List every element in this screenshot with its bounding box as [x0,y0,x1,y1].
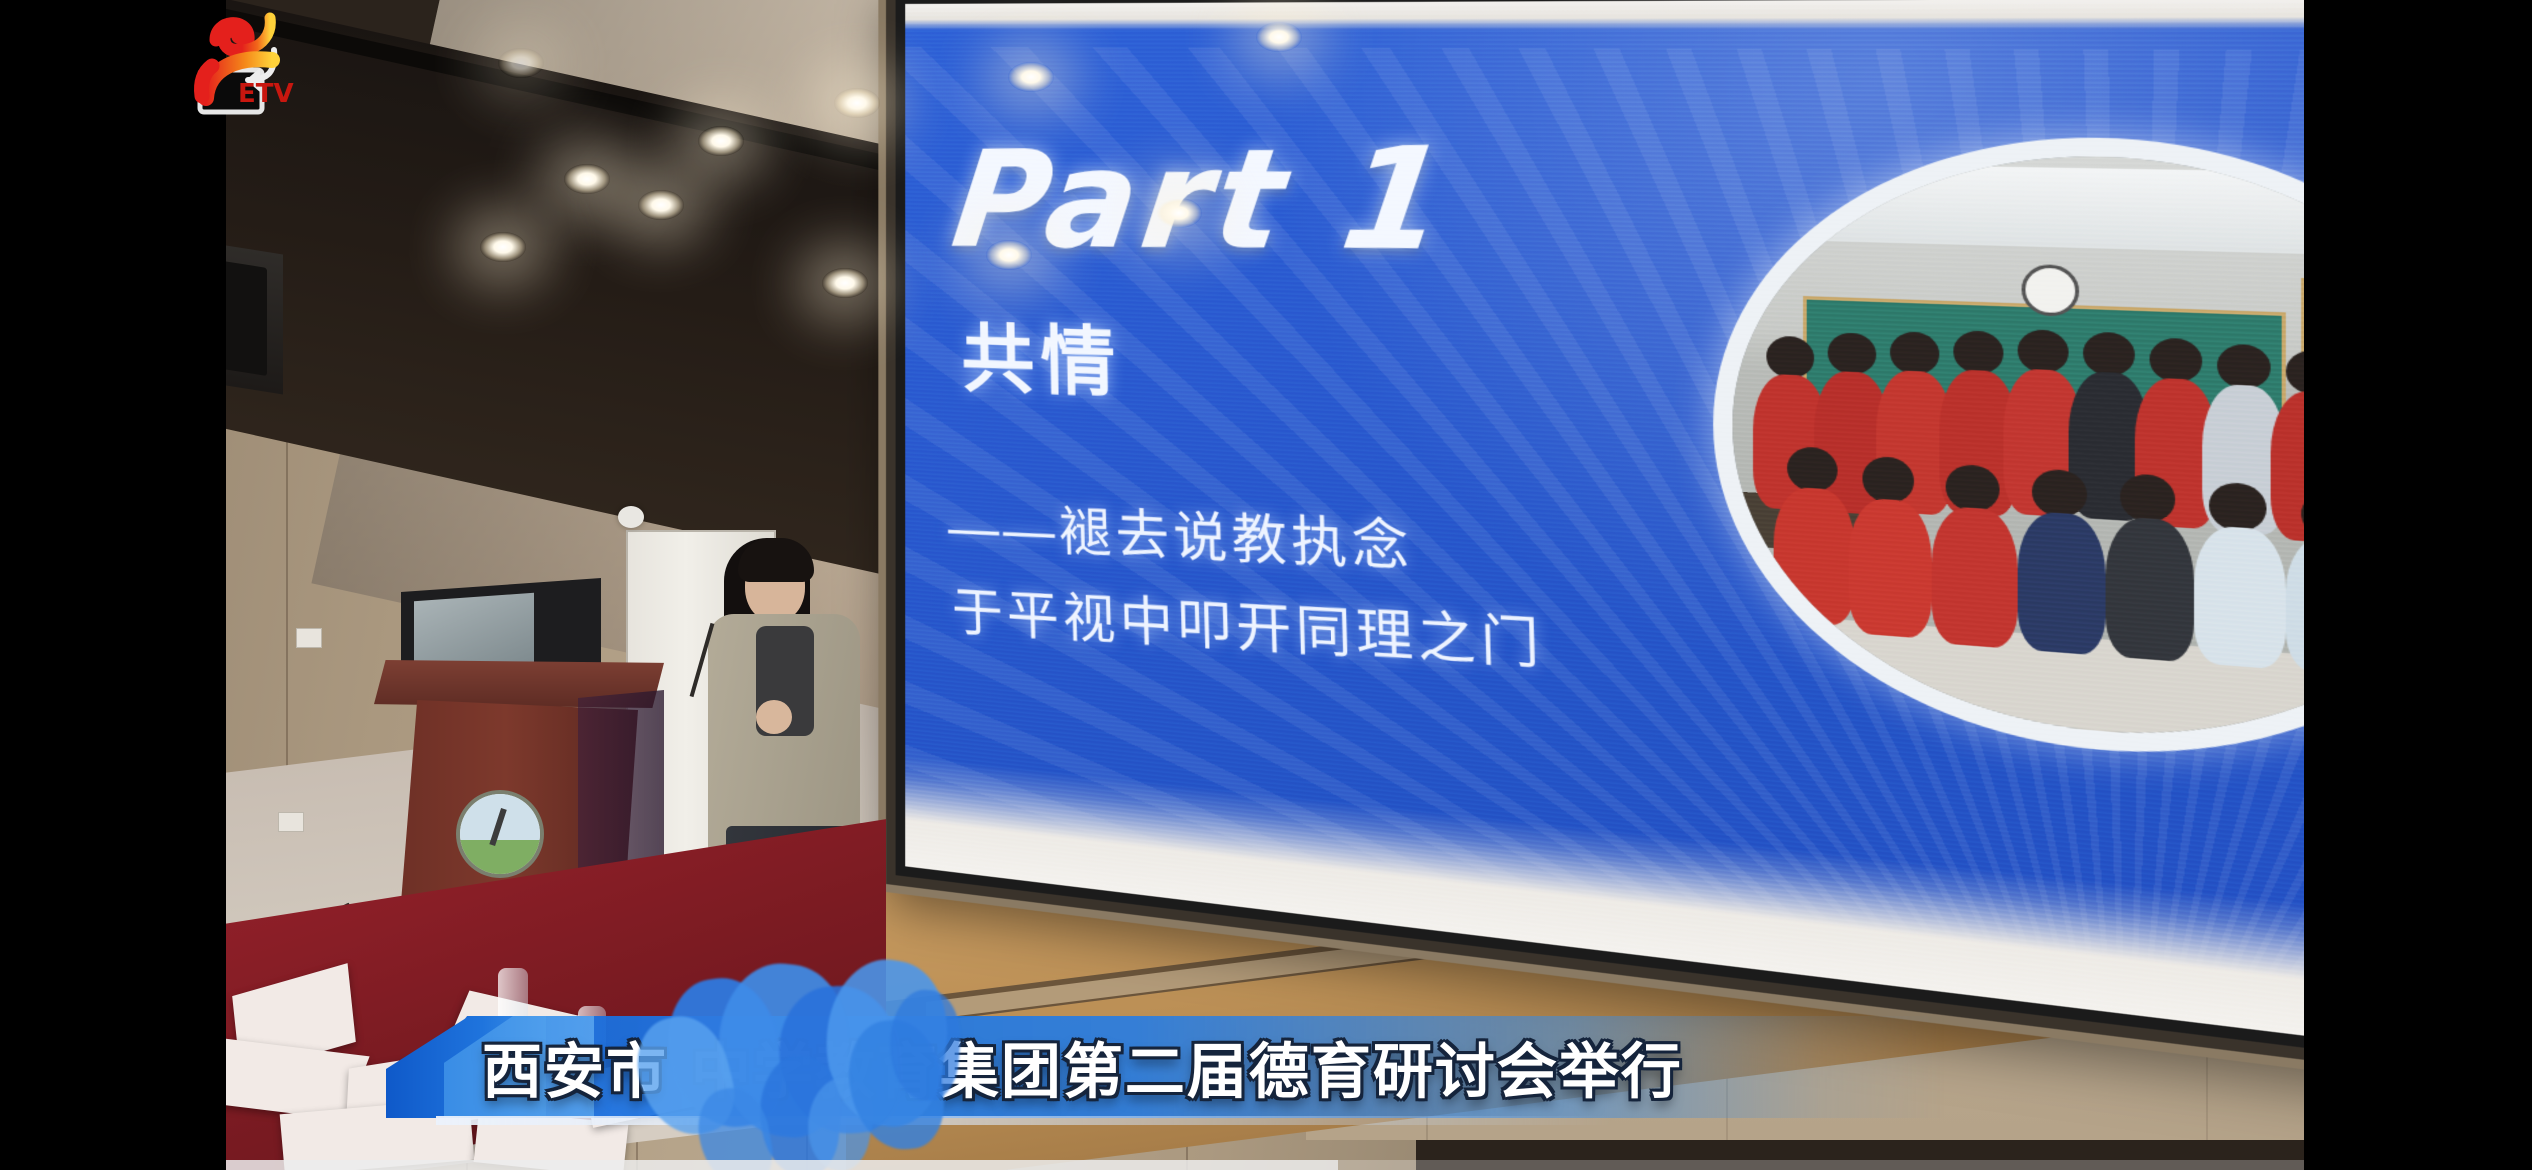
wall-outlet [296,628,322,648]
ceiling-light [564,164,610,194]
ceiling-light [698,126,744,156]
video-frame[interactable]: Part 1 共情 ——褪去说教执念 于平视中叩开同理之门 [226,0,2304,1170]
slide-class-photo [1713,133,2304,787]
school-emblem [456,790,544,878]
ceiling-light [638,190,684,220]
ceiling-light [986,240,1032,270]
ticker-underline [436,1116,1616,1125]
ceiling-light [1156,198,1202,228]
ceiling-camera [618,506,644,528]
ceiling-light [480,232,526,262]
ceiling-light [1008,62,1054,92]
ceiling-light [498,48,544,78]
ceiling-light [1256,22,1302,52]
ceiling-light [822,268,868,298]
slide-top-band [905,0,2304,30]
etv-logo-text: ETV [238,79,294,109]
video-player-stage: Part 1 共情 ——褪去说教执念 于平视中叩开同理之门 [0,0,2532,1170]
video-progress-bar[interactable] [226,1160,2304,1170]
wall-outlet [278,812,304,832]
letterbox-right [2304,0,2532,1170]
ticker-headline: 西安市 中学教育集团第二届德育研讨会举行 [482,1024,1683,1111]
photo-students-crowd [1746,316,2304,692]
slide-line-1: ——褪去说教执念 [947,484,1414,582]
led-screen: Part 1 共情 ——褪去说教执念 于平视中叩开同理之门 [905,0,2304,1073]
slide-subtitle: 共情 [961,298,1123,412]
news-ticker-bar: 西安市 中学教育集团第二届德育研讨会举行 [386,1016,1946,1118]
progress-fill [226,1160,1338,1170]
wall-loudspeaker [226,242,283,395]
ceiling-light [834,88,880,118]
letterbox-left [0,0,226,1170]
slide-line-2: 于平视中叩开同理之门 [951,569,1545,680]
speaker-hand [756,700,792,734]
etv-logo: ETV [172,6,312,116]
